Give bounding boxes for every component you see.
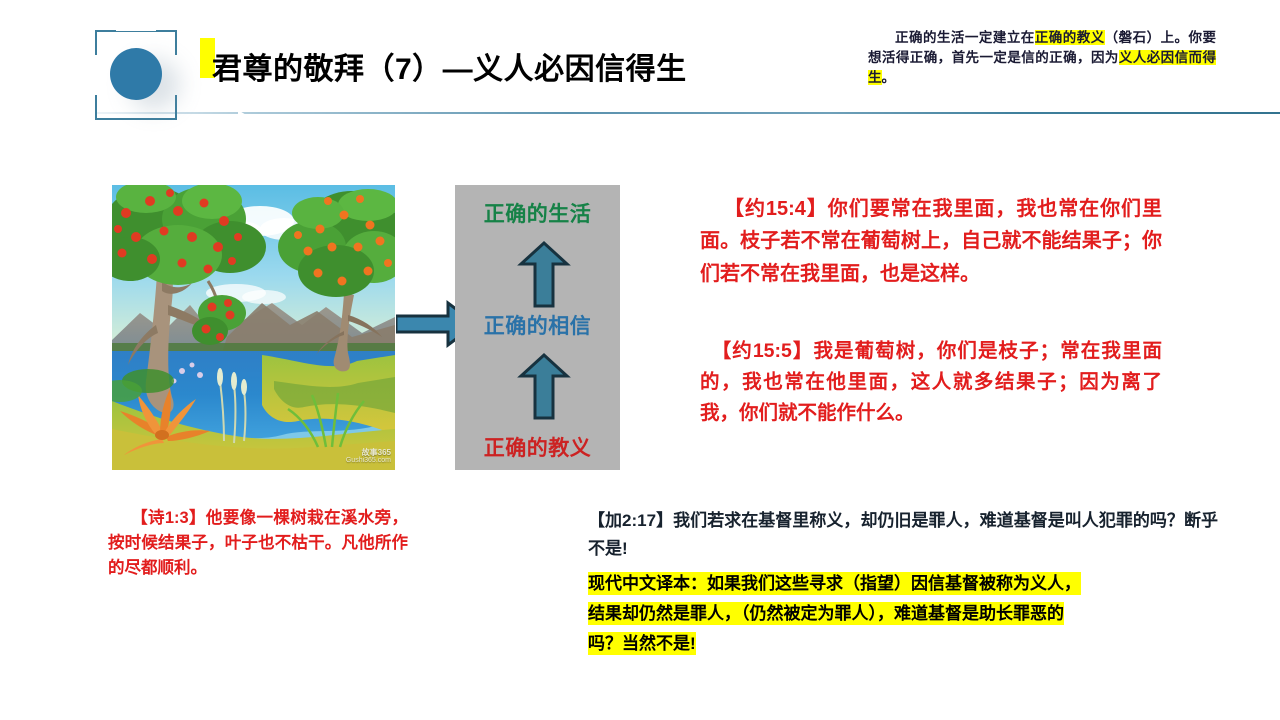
diagram-label-correct-doctrine: 正确的教义 [455, 432, 620, 462]
top-note-part1: 正确的生活一定建立在 [895, 30, 1035, 45]
watermark-url: Gushi365.com [346, 457, 391, 465]
watermark-title: 故事365 [346, 449, 391, 458]
modern-translation-line-2: 结果却仍然是罪人，（仍然被定为罪人），难道基督是助长罪恶的 [588, 602, 1064, 625]
image-watermark: 故事365 Gushi365.com [346, 449, 391, 465]
landscape-svg [112, 185, 395, 470]
header-divider-line [95, 112, 1280, 114]
scripture-galatians-2-17: 【加2:17】我们若求在基督里称义，却仍旧是罪人，难道基督是叫人犯罪的吗？断乎不… [588, 507, 1218, 562]
modern-chinese-translation: 现代中文译本：如果我们这些寻求（指望）因信基督被称为义人， 结果却仍然是罪人，（… [588, 569, 1220, 658]
top-note-highlight-1: 正确的教义 [1035, 30, 1105, 45]
play-circle-icon[interactable] [110, 48, 162, 100]
up-arrow-icon-upper [513, 240, 575, 308]
page-title: 君尊的敬拜（7）—义人必因信得生 [212, 44, 687, 88]
scripture-john-15-4: 【约15:4】你们要常在我里面，我也常在你们里面。枝子若不常在葡萄树上，自己就不… [700, 193, 1162, 290]
frame-gap-top [116, 29, 156, 31]
diagram-label-correct-belief: 正确的相信 [455, 310, 620, 340]
play-triangle-icon [238, 110, 256, 132]
frame-gap-left [95, 55, 97, 95]
landscape-illustration: 故事365 Gushi365.com [112, 185, 395, 470]
scripture-psalm-1-3: 【诗1:3】他要像一棵树栽在溪水旁，按时候结果子，叶子也不枯干。凡他所作的尽都顺… [108, 506, 408, 581]
diagram-label-correct-living: 正确的生活 [455, 198, 620, 228]
modern-translation-line-1: 现代中文译本：如果我们这些寻求（指望）因信基督被称为义人， [588, 572, 1081, 595]
frame-gap-right [175, 55, 177, 95]
up-arrow-icon-lower [513, 352, 575, 420]
top-right-note: 正确的生活一定建立在正确的教义（磐石）上。你要想活得正确，首先一定是信的正确，因… [868, 28, 1216, 88]
scripture-john-15-5: 【约15:5】我是葡萄树，你们是枝子；常在我里面的，我也常在他里面，这人就多结果… [700, 336, 1162, 428]
top-note-part3: 。 [882, 70, 896, 85]
modern-translation-line-3: 吗？当然不是! [588, 632, 696, 655]
